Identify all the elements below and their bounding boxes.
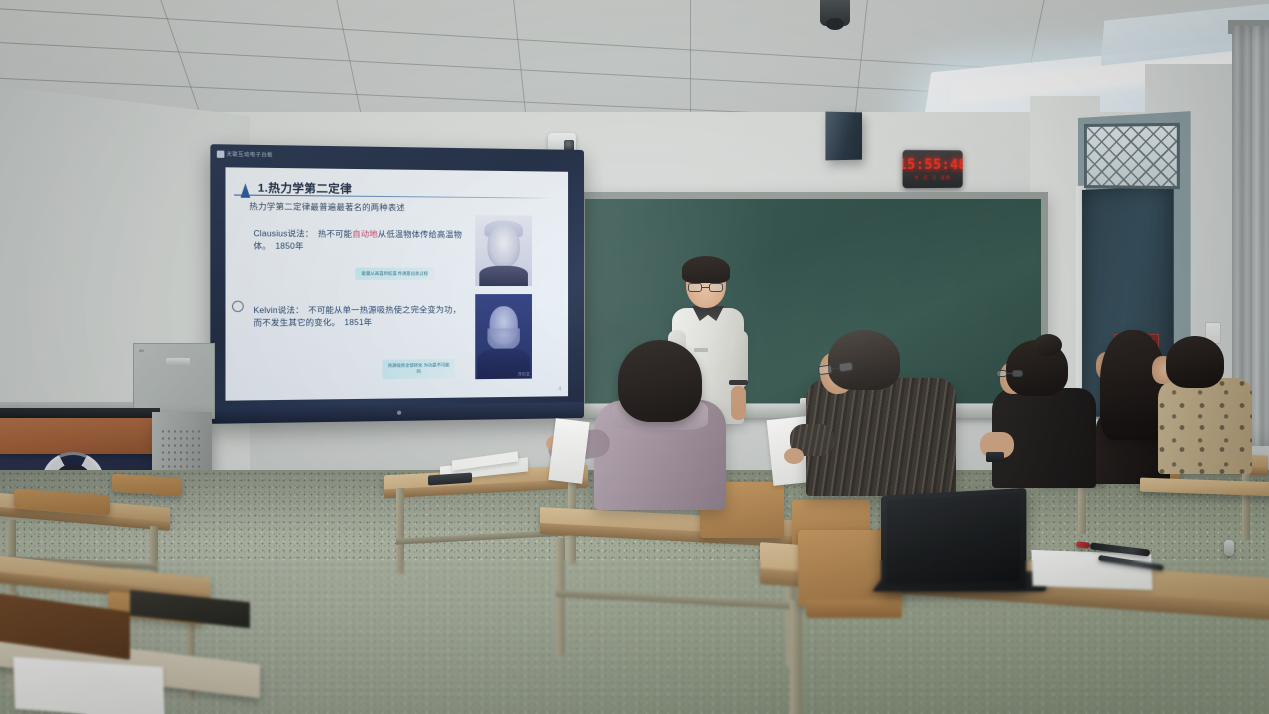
- lens-right: [1012, 370, 1023, 377]
- portrait-body: [479, 266, 528, 286]
- student-hair: [828, 330, 900, 390]
- whiteboard-brand-logo: 天联互动电子白板: [215, 148, 277, 160]
- lens-left: [996, 370, 1007, 377]
- lens-left: [818, 364, 833, 375]
- student-glasses-icon: [996, 370, 1022, 378]
- slide-title-underline: [234, 194, 552, 199]
- brand-logo-text: 天联互动电子白板: [227, 151, 273, 159]
- student-hand: [784, 448, 804, 464]
- portrait-kelvin: 开尔文: [475, 294, 532, 379]
- podium-desktop: [0, 418, 156, 454]
- teacher-glasses-icon: [688, 283, 724, 292]
- student-hair: [1166, 336, 1224, 388]
- student-hair-bun: [1034, 334, 1062, 356]
- portrait-beard: [487, 328, 519, 350]
- glasses-bridge: [702, 287, 709, 288]
- student-hair: [1100, 330, 1166, 440]
- brand-mark-icon: [217, 151, 225, 158]
- student-hair: [618, 340, 702, 422]
- desk-leg: [790, 600, 802, 714]
- clock-time-display: 15:55:48: [903, 157, 963, 171]
- lens-right: [709, 283, 723, 292]
- slide-callout-two: 热源吸热全部转化 为功是不可能的: [382, 359, 454, 379]
- slide-callout-one: 能量从高温到低温 传递是自发过程: [355, 268, 434, 281]
- paper-sheet[interactable]: [1031, 550, 1152, 590]
- portrait-face: [487, 224, 519, 267]
- clock-date-label: 年 月 日 星期: [915, 174, 952, 180]
- tablet-screen[interactable]: [887, 493, 1021, 584]
- desk-leg: [396, 488, 404, 574]
- slide-bullet-icon: [232, 301, 244, 312]
- led-wall-clock: 15:55:48 年 月 日 星期: [903, 150, 963, 188]
- power-led-icon: [397, 411, 401, 415]
- ceiling-projector-mount: [820, 0, 850, 26]
- av-panel-slot: [166, 358, 190, 366]
- red-marker[interactable]: [1076, 541, 1090, 548]
- portrait-caption: 开尔文: [518, 372, 530, 378]
- portrait-clausius: [475, 215, 532, 286]
- interactive-whiteboard[interactable]: 天联互动电子白板 1.热力学第二定律 热力学第二定律最普遍最著名的两种表述 Cl…: [210, 144, 584, 424]
- pen-cap[interactable]: [1224, 540, 1234, 556]
- lens-right: [838, 362, 853, 373]
- teacher-cuff-right: [729, 380, 748, 385]
- teacher-arm-right: [731, 386, 746, 420]
- wall-speaker: [825, 112, 862, 161]
- transom-window: [1084, 123, 1180, 190]
- teacher-hair: [682, 256, 730, 283]
- classroom-scene: 多媒体教室管理制度 请爱护公物 保持教室整洁 15:55:48 年 月 日 星期…: [0, 0, 1269, 714]
- slide-statement-kelvin: Kelvin说法： 不可能从单一热源吸热使之完全变为功，而不发生其它的变化。 1…: [253, 304, 468, 330]
- slide-statement-clausius: Clausius说法： 热不可能自动地从低温物体传给高温物体。 1850年: [253, 228, 468, 254]
- clausius-text-highlight: 自动地: [352, 230, 378, 239]
- whiteboard-screen[interactable]: 1.热力学第二定律 热力学第二定律最普遍最著名的两种表述 Clausius说法：…: [225, 167, 568, 400]
- chair-seat[interactable]: [806, 600, 902, 618]
- slide-subtitle: 热力学第二定律最普遍最著名的两种表述: [249, 201, 405, 214]
- teacher-shirt-pocket: [694, 348, 708, 352]
- paper-sheet[interactable]: [13, 657, 165, 714]
- slide-page-number: 4: [558, 386, 561, 392]
- clausius-text-pre: Clausius说法： 热不可能: [253, 229, 352, 239]
- student-torso: [1158, 378, 1252, 474]
- lens-left: [688, 283, 702, 292]
- av-panel-label: AV: [139, 348, 144, 353]
- slide-title-row: 1.热力学第二定律: [241, 179, 552, 183]
- smartphone[interactable]: [986, 452, 1004, 462]
- lattice-grille-icon: [1087, 126, 1177, 186]
